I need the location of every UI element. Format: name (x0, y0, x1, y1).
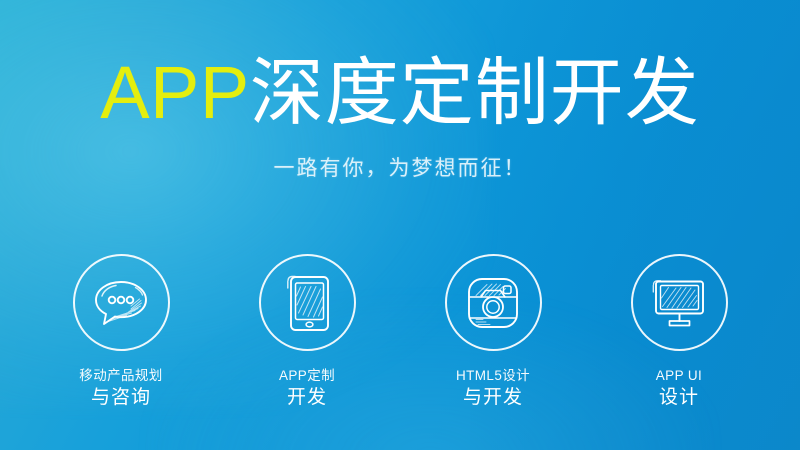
feature-label-top: APP定制 (279, 369, 335, 383)
feature-item-app-ui-design[interactable]: APP UI 设计 (586, 254, 772, 408)
banner-root: APP深度定制开发 一路有你，为梦想而征！ (0, 0, 800, 450)
feature-label-bottom: 开发 (279, 388, 335, 408)
feature-icon-circle (73, 254, 170, 351)
feature-label-top: 移动产品规划 (79, 369, 162, 383)
page-title-rest: 深度定制开发 (250, 51, 700, 134)
feature-item-app-development[interactable]: APP定制 开发 (214, 254, 400, 408)
page-title: APP深度定制开发 (0, 56, 800, 130)
feature-list: 移动产品规划 与咨询 (0, 254, 800, 408)
feature-icon-circle (445, 254, 542, 351)
feature-item-html5-design[interactable]: HTML5设计 与开发 (400, 254, 586, 408)
feature-labels: APP定制 开发 (279, 369, 335, 408)
feature-labels: 移动产品规划 与咨询 (79, 369, 162, 408)
feature-icon-circle (259, 254, 356, 351)
speech-bubble-icon (91, 275, 151, 331)
feature-icon-circle (631, 254, 728, 351)
feature-label-top: APP UI (656, 369, 702, 383)
camera-icon (463, 273, 523, 333)
feature-label-top: HTML5设计 (456, 369, 530, 383)
feature-item-consulting[interactable]: 移动产品规划 与咨询 (28, 254, 214, 408)
desktop-monitor-icon (648, 275, 710, 331)
feature-label-bottom: 与咨询 (79, 388, 162, 408)
feature-labels: APP UI 设计 (656, 369, 702, 408)
page-title-prefix: APP (100, 51, 250, 134)
tablet-device-icon (281, 272, 333, 334)
page-subtitle: 一路有你，为梦想而征！ (0, 152, 800, 182)
feature-label-bottom: 设计 (656, 388, 702, 408)
feature-labels: HTML5设计 与开发 (456, 369, 530, 408)
feature-label-bottom: 与开发 (456, 388, 530, 408)
